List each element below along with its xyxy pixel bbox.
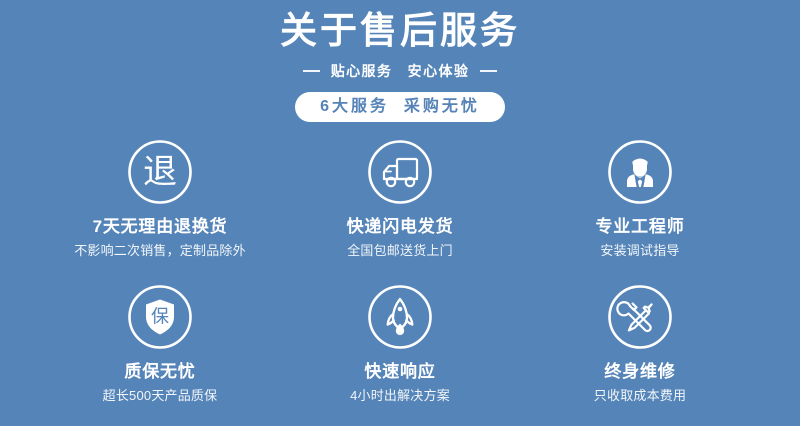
return-glyph: 退: [143, 153, 177, 191]
dash-icon-right: [480, 70, 497, 72]
service-item-warranty[interactable]: 保 质保无忧 超长500天产品质保: [40, 283, 280, 426]
service-title: 质保无忧: [124, 361, 195, 382]
service-item-repair[interactable]: 终身维修 只收取成本费用: [520, 283, 760, 426]
services-grid: 退 7天无理由退换货 不影响二次销售，定制品除外: [40, 138, 760, 426]
service-item-engineer[interactable]: 专业工程师 安装调试指导: [520, 138, 760, 283]
delivery-truck-icon: [366, 138, 434, 206]
return-circle-icon: 退: [126, 138, 194, 206]
banner-header: 关于售后服务 贴心服务 安心体验 6大服务 采购无忧: [0, 0, 800, 122]
service-title: 快递闪电发货: [347, 216, 454, 237]
wrench-screwdriver-icon: [606, 283, 674, 351]
service-subtitle: 超长500天产品质保: [103, 388, 218, 404]
after-sales-service-banner: 关于售后服务 贴心服务 安心体验 6大服务 采购无忧 退 7天无理由退换货 不影…: [0, 0, 800, 426]
warranty-glyph: 保: [151, 307, 169, 327]
service-title: 终身维修: [604, 361, 675, 382]
engineer-person-icon: [606, 138, 674, 206]
service-title: 专业工程师: [596, 216, 685, 237]
service-subtitle: 全国包邮送货上门: [347, 243, 453, 259]
service-title: 7天无理由退换货: [93, 216, 228, 237]
service-item-delivery[interactable]: 快递闪电发货 全国包邮送货上门: [280, 138, 520, 283]
page-title: 关于售后服务: [280, 8, 520, 54]
service-item-return[interactable]: 退 7天无理由退换货 不影响二次销售，定制品除外: [40, 138, 280, 283]
service-title: 快速响应: [364, 361, 435, 382]
service-subtitle: 只收取成本费用: [594, 388, 686, 404]
service-item-response[interactable]: 快速响应 4小时出解决方案: [280, 283, 520, 426]
dash-icon-left: [303, 70, 320, 72]
service-count-badge: 6大服务 采购无忧: [295, 92, 505, 122]
service-subtitle: 安装调试指导: [600, 243, 679, 259]
subtitle-text: 贴心服务 安心体验: [331, 61, 470, 81]
service-subtitle: 4小时出解决方案: [350, 388, 450, 404]
subtitle-row: 贴心服务 安心体验: [303, 61, 498, 81]
service-subtitle: 不影响二次销售，定制品除外: [74, 243, 246, 259]
rocket-icon: [366, 283, 434, 351]
warranty-shield-icon: 保: [126, 283, 194, 351]
